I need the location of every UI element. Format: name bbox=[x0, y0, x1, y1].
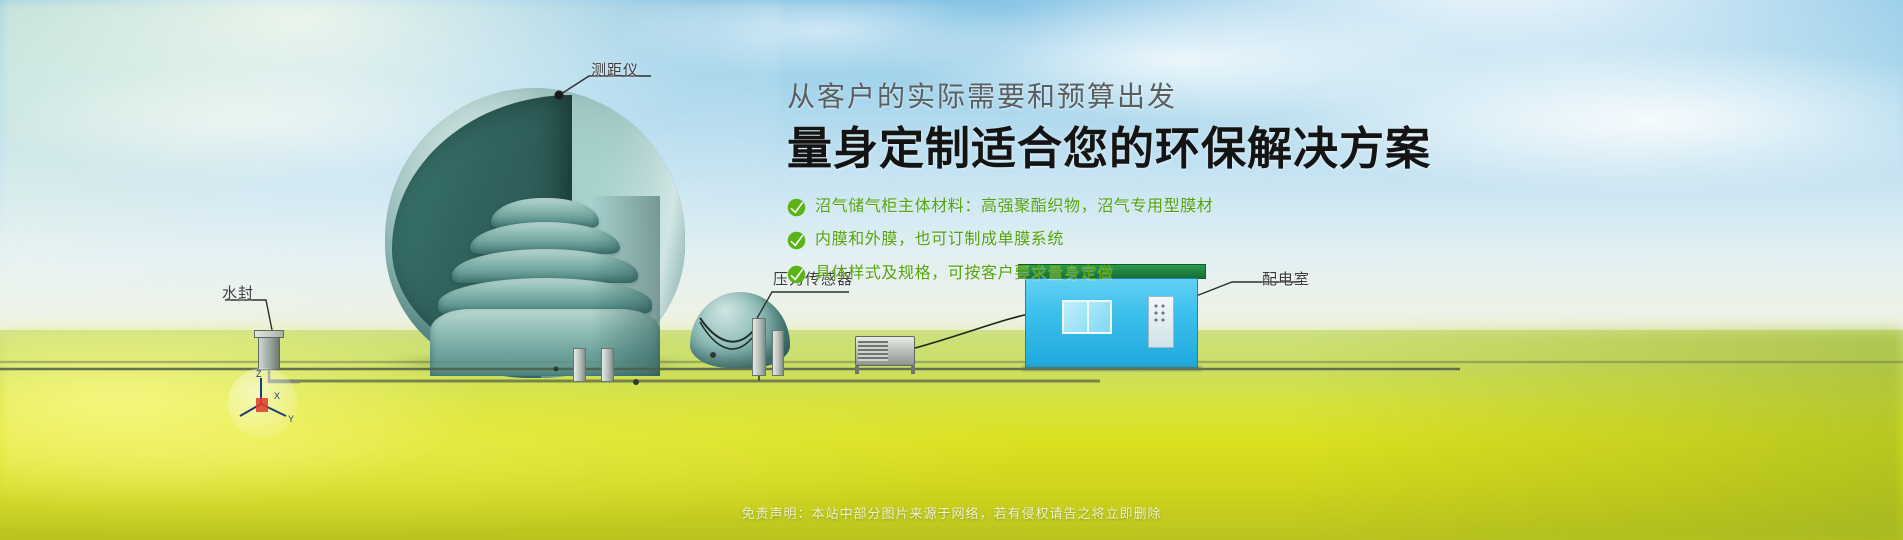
axis-gizmo: Z X Y bbox=[228, 368, 298, 438]
list-item: 具体样式及规格，可按客户要求量身定做 bbox=[787, 264, 1507, 285]
check-circle-icon bbox=[787, 265, 806, 284]
support-post bbox=[772, 330, 784, 376]
check-circle-icon bbox=[787, 231, 806, 250]
support-post bbox=[601, 348, 614, 382]
water-seal-cap bbox=[254, 330, 284, 338]
check-circle-icon bbox=[787, 198, 806, 217]
rangefinder-sensor-dot bbox=[555, 91, 564, 100]
control-house-shadow bbox=[1022, 366, 1202, 371]
disclaimer-text: 免责声明：本站中部分图片来源于网络，若有侵权请告之将立即删除 bbox=[0, 503, 1903, 522]
water-seal-unit bbox=[258, 336, 280, 370]
axis-label-z: Z bbox=[256, 369, 262, 379]
axis-label-x: X bbox=[274, 391, 280, 401]
pressure-sensor-post bbox=[752, 318, 766, 376]
list-item: 沼气储气柜主体材料：高强聚酯织物，沼气专用型膜材 bbox=[787, 197, 1507, 218]
label-water-seal: 水封 bbox=[222, 282, 254, 303]
list-item-label: 具体样式及规格，可按客户要求量身定做 bbox=[815, 264, 1114, 285]
blower-grill bbox=[858, 341, 888, 361]
support-post bbox=[573, 348, 586, 382]
control-house-window bbox=[1062, 300, 1112, 334]
list-item-label: 沼气储气柜主体材料：高强聚酯织物，沼气专用型膜材 bbox=[815, 197, 1213, 218]
list-item: 内膜和外膜，也可订制成单膜系统 bbox=[787, 230, 1507, 251]
control-panel-buttons bbox=[1152, 302, 1170, 326]
hero-text-block: 从客户的实际需要和预算出发 量身定制适合您的环保解决方案 沼气储气柜主体材料：高… bbox=[787, 80, 1507, 298]
label-rangefinder: 测距仪 bbox=[591, 59, 639, 80]
hero-banner: Z X Y 测距仪 水封 压力传感器 配电室 从客户的实际需要和预算出发 量身定… bbox=[0, 0, 1903, 540]
hero-subhead: 从客户的实际需要和预算出发 bbox=[787, 80, 1507, 114]
feature-list: 沼气储气柜主体材料：高强聚酯织物，沼气专用型膜材 内膜和外膜，也可订制成单膜系统 bbox=[787, 197, 1507, 285]
leader-water-seal bbox=[225, 300, 272, 330]
axis-label-y: Y bbox=[288, 414, 294, 424]
list-item-label: 内膜和外膜，也可订制成单膜系统 bbox=[815, 230, 1064, 251]
blower-legs bbox=[855, 366, 915, 374]
hero-headline: 量身定制适合您的环保解决方案 bbox=[787, 122, 1507, 175]
